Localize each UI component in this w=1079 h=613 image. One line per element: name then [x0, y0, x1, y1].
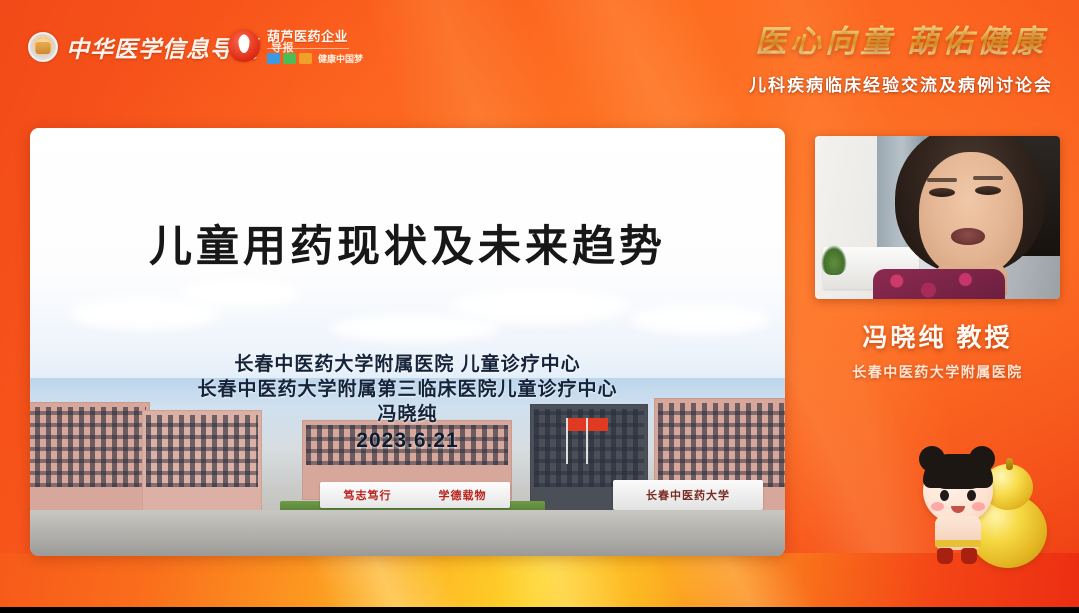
university-sign: 长春中医药大学 [613, 480, 763, 510]
speaker-brow-left [927, 178, 957, 182]
sponsor-logo-hulu-row: 健康中国梦 [267, 52, 363, 65]
campus-gate-sign: 笃志笃行 学德载物 [320, 482, 510, 508]
speaker-face [919, 152, 1023, 276]
chip-blue-icon [267, 53, 280, 64]
mascot-belt [935, 540, 981, 547]
divider [267, 48, 349, 49]
sponsor-logo-hulu-text: 葫芦医药企业 健康中国梦 [267, 26, 363, 65]
gourd-stem [1006, 458, 1013, 470]
gate-text-right: 学德载物 [439, 487, 487, 503]
cloud-icon [630, 304, 770, 334]
speaker-brow-right [973, 176, 1003, 180]
road [30, 510, 785, 556]
mascot-child [915, 444, 1001, 564]
chip-green-icon [283, 53, 296, 64]
slide-affiliation-line-1: 长春中医药大学附属医院 儿童诊疗中心 [30, 352, 785, 377]
speaker-name: 冯晓纯 教授 [815, 318, 1060, 354]
mascot-eye-left [940, 490, 949, 501]
mascot-boot-right [961, 548, 977, 564]
gourd-badge-icon [228, 30, 260, 62]
sponsor-logo-hulu-label: 葫芦医药企业 [267, 26, 363, 45]
slide-date: 2023.6.21 [30, 429, 785, 453]
speaker-eye-right [975, 186, 1001, 195]
slide-meta-block: 长春中医药大学附属医院 儿童诊疗中心 长春中医药大学附属第三临床医院儿童诊疗中心… [30, 352, 785, 453]
event-main-title: 医心向童 葫佑健康 [749, 16, 1053, 63]
broadcast-stage: 中华医学信息导报 导报 葫芦医药企业 健康中国梦 医心向童 葫佑健康 儿科疾病临… [0, 0, 1079, 613]
medical-emblem-icon [28, 32, 58, 62]
cloud-icon [330, 314, 500, 342]
speaker-eye-left [929, 188, 955, 197]
mascot-boot-left [937, 548, 953, 564]
plant-icon [821, 245, 847, 275]
presentation-slide[interactable]: 笃志笃行 学德载物 长春中医药大学 儿童用药现状及未来趋势 长春中医药大学附属医… [30, 128, 785, 556]
speaker-mouth [951, 228, 985, 245]
slide-presenter: 冯晓纯 [30, 402, 785, 427]
speaker-organization: 长春中医药大学附属医院 [815, 362, 1060, 382]
mascot-cheek-left [931, 502, 944, 511]
university-sign-label: 长春中医药大学 [646, 487, 730, 503]
cloud-icon [180, 278, 300, 308]
mascot-fringe [933, 477, 983, 489]
mascot-eye-right [967, 490, 976, 501]
bottom-black-edge [0, 607, 1079, 613]
sponsor-logo-hulu[interactable]: 葫芦医药企业 健康中国梦 [228, 26, 363, 65]
speaker-video-feed[interactable] [815, 136, 1060, 299]
mascot-cheek-right [972, 502, 985, 511]
event-title-block: 医心向童 葫佑健康 儿科疾病临床经验交流及病例讨论会 [749, 16, 1053, 96]
gate-text-left: 笃志笃行 [344, 487, 392, 503]
slide-affiliation-line-2: 长春中医药大学附属第三临床医院儿童诊疗中心 [30, 377, 785, 402]
speaker-caption: 冯晓纯 教授 长春中医药大学附属医院 [815, 318, 1060, 382]
gourd-boy-mascot-icon [905, 435, 1055, 570]
slide-title: 儿童用药现状及未来趋势 [30, 212, 785, 274]
sponsor-logo-hulu-slogan: 健康中国梦 [318, 52, 363, 65]
chip-orange-icon [299, 53, 312, 64]
speaker-shirt [873, 269, 1005, 299]
top-banner: 中华医学信息导报 导报 葫芦医药企业 健康中国梦 医心向童 葫佑健康 儿科疾病临… [0, 0, 1079, 112]
event-subtitle: 儿科疾病临床经验交流及病例讨论会 [749, 71, 1053, 96]
